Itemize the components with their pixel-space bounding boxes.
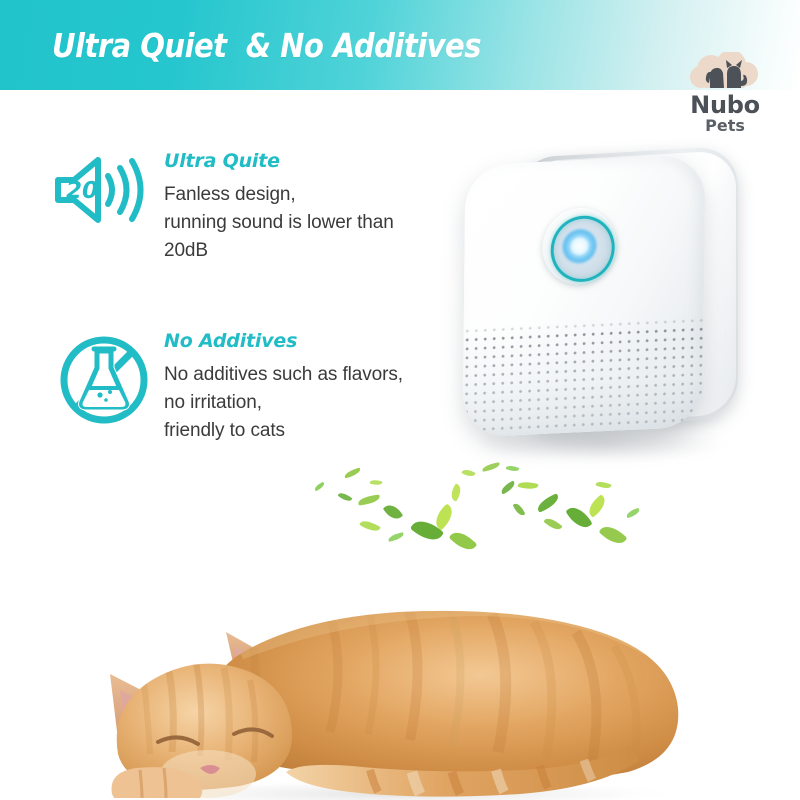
- leaf-icon: [513, 502, 526, 518]
- leaf-icon: [343, 468, 361, 479]
- leaf-icon: [461, 468, 475, 479]
- leaf-icon: [358, 495, 381, 506]
- feature-body: No additives such as flavors, no irritat…: [164, 361, 403, 445]
- no-additives-flask-icon: [48, 330, 160, 426]
- leaf-icon: [482, 462, 501, 472]
- feature-text-block: Ultra Quite Fanless design, running soun…: [160, 150, 394, 265]
- feature-no-additives: No Additives No additives such as flavor…: [48, 330, 403, 445]
- infographic-page: Ultra Quiet & No Additives: [0, 0, 800, 800]
- leaf-icon: [499, 480, 516, 494]
- leaf-icon: [449, 527, 478, 555]
- product-front-face: [463, 154, 706, 437]
- leaf-icon: [599, 521, 628, 548]
- feature-heading: No Additives: [164, 330, 403, 352]
- cloud-with-dog-and-cat-icon: [669, 52, 781, 92]
- feature-ultra-quiet: 20 20 Ultra Quite Fanless design, runnin…: [48, 150, 394, 265]
- speaker-volume-icon: 20 20: [48, 150, 160, 226]
- speaker-db-value: 20: [66, 178, 98, 204]
- leaf-icon: [565, 503, 592, 533]
- product-vent-shading: [463, 315, 704, 438]
- leaf-icon: [506, 464, 520, 473]
- logo-name: Nubo: [669, 93, 781, 117]
- leaf-icon: [585, 494, 609, 518]
- feature-text-block: No Additives No additives such as flavor…: [160, 330, 403, 445]
- leaf-icon: [313, 482, 325, 492]
- feature-heading: Ultra Quite: [164, 150, 394, 172]
- brand-logo: Nubo Pets: [669, 52, 781, 136]
- product-image: [452, 138, 762, 468]
- leaf-icon: [338, 491, 353, 504]
- floating-leaves-decoration: [300, 448, 660, 558]
- leaf-icon: [370, 479, 383, 487]
- feature-body: Fanless design, running sound is lower t…: [164, 181, 394, 265]
- leaf-icon: [535, 493, 561, 513]
- leaf-icon: [359, 518, 380, 534]
- leaf-icon: [388, 532, 405, 542]
- leaf-icon: [448, 483, 463, 501]
- leaf-icon: [543, 515, 562, 532]
- page-title: Ultra Quiet & No Additives: [52, 26, 481, 65]
- leaf-icon: [517, 480, 538, 491]
- sleeping-cat-photo: [0, 556, 800, 800]
- logo-subtitle: Pets: [669, 117, 781, 134]
- leaf-icon: [625, 508, 640, 518]
- leaf-icon: [595, 480, 611, 491]
- leaf-icon: [383, 501, 404, 523]
